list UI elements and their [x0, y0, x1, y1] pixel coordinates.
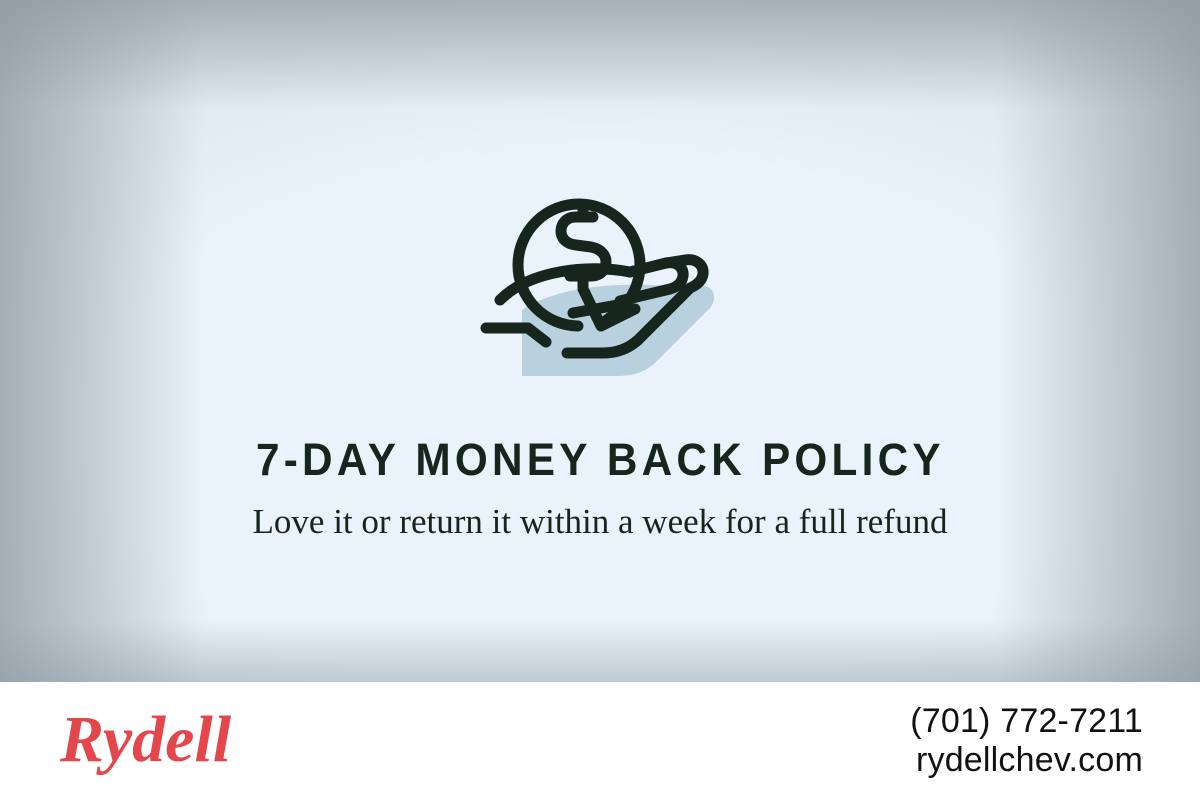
contact-info: (701) 772-7211 rydellchev.com — [910, 702, 1143, 781]
money-back-hand-icon — [470, 150, 730, 400]
website-url[interactable]: rydellchev.com — [910, 741, 1143, 780]
promo-card: 7-DAY MONEY BACK POLICY Love it or retur… — [0, 0, 1200, 800]
hero-panel: 7-DAY MONEY BACK POLICY Love it or retur… — [0, 0, 1200, 682]
dollar-sign-icon — [561, 205, 606, 289]
page-subtitle: Love it or return it within a week for a… — [250, 499, 950, 545]
rydell-logo[interactable]: Rydell — [60, 704, 310, 778]
phone-number[interactable]: (701) 772-7211 — [910, 702, 1143, 741]
hero-content: 7-DAY MONEY BACK POLICY Love it or retur… — [0, 0, 1200, 682]
hand-wrist-icon — [486, 328, 546, 342]
rydell-logo-text: Rydell — [60, 704, 232, 776]
page-title: 7-DAY MONEY BACK POLICY — [256, 436, 945, 483]
footer-bar: Rydell (701) 772-7211 rydellchev.com — [0, 682, 1200, 800]
